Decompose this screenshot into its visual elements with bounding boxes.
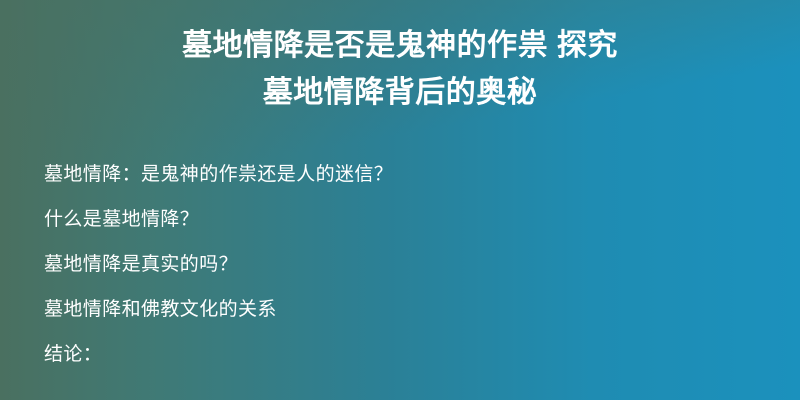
outline-item-1: 墓地情降：是鬼神的作祟还是人的迷信？	[44, 152, 780, 197]
title-line-2: 墓地情降背后的奥秘	[60, 69, 740, 116]
article-outline-list: 墓地情降：是鬼神的作祟还是人的迷信？ 什么是墓地情降？ 墓地情降是真实的吗？ 墓…	[44, 152, 780, 377]
page-title: 墓地情降是否是鬼神的作祟 探究 墓地情降背后的奥秘	[0, 22, 800, 116]
title-line-1: 墓地情降是否是鬼神的作祟 探究	[60, 22, 740, 69]
outline-item-3: 墓地情降是真实的吗？	[44, 242, 780, 287]
outline-item-2: 什么是墓地情降？	[44, 197, 780, 242]
outline-item-4: 墓地情降和佛教文化的关系	[44, 287, 780, 332]
outline-item-5: 结论：	[44, 332, 780, 377]
article-banner-card: 墓地情降是否是鬼神的作祟 探究 墓地情降背后的奥秘 墓地情降：是鬼神的作祟还是人…	[0, 0, 800, 400]
